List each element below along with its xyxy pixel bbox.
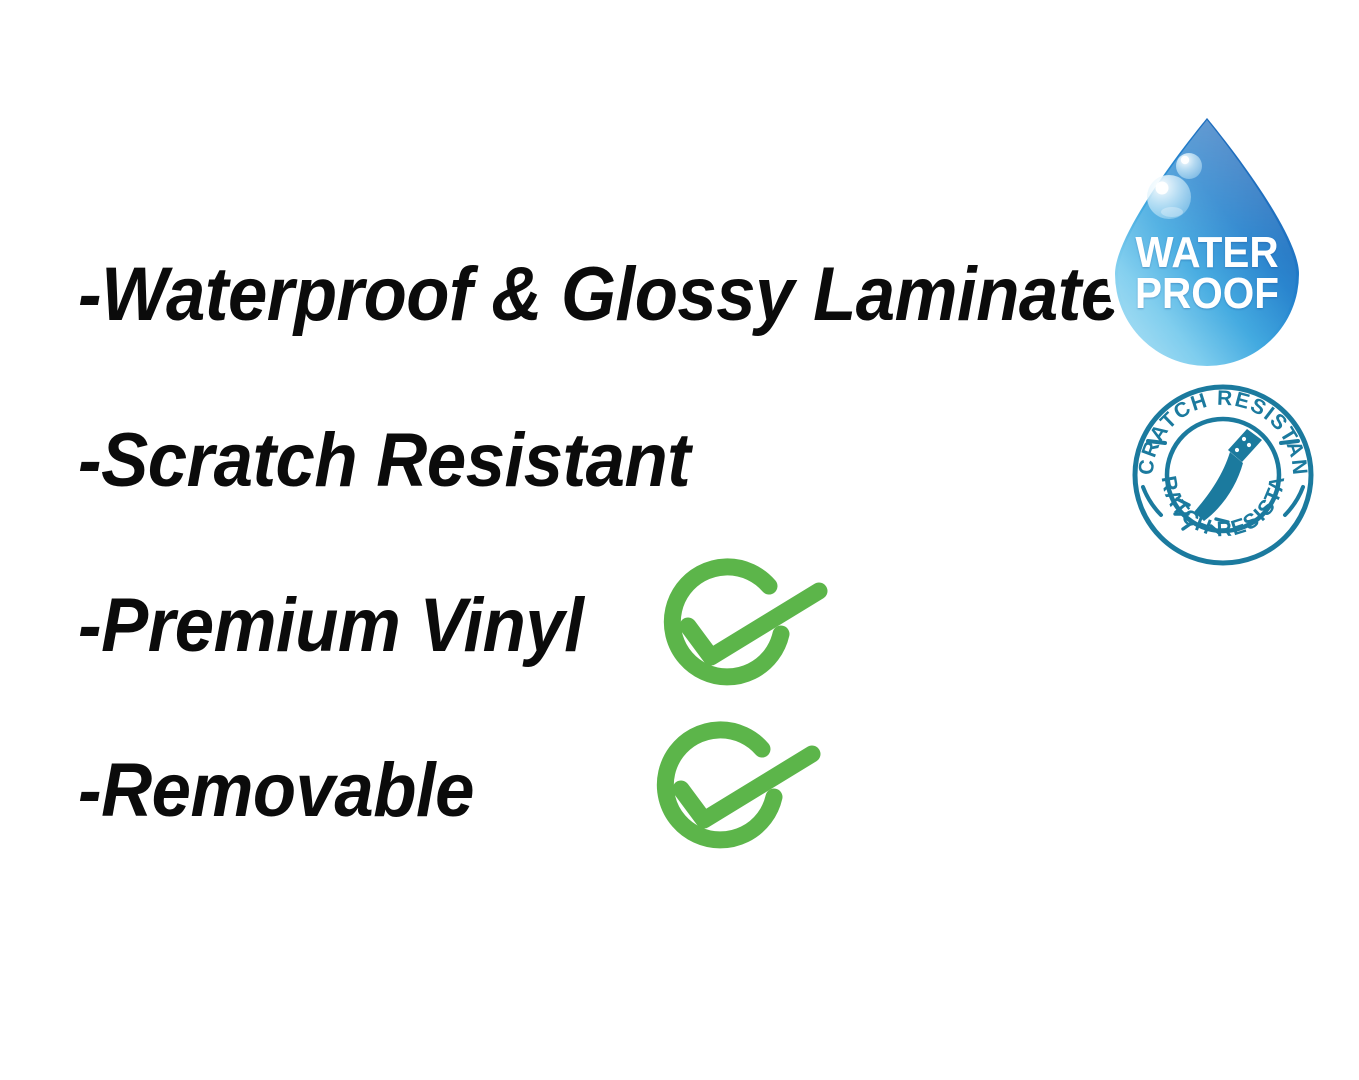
feature-line-scratch-resistant: -Scratch Resistant	[78, 423, 690, 499]
feature-line-removable: -Removable	[78, 753, 474, 829]
feature-line-waterproof-glossy-laminated: -Waterproof & Glossy Laminated	[78, 257, 1162, 333]
check-circle-icon	[634, 719, 824, 869]
check-circle-icon	[641, 556, 831, 706]
scratch-resistant-badge: SCRATCH RESISTANT SCRATCH RESISTANT	[1131, 383, 1315, 567]
water-drop-icon	[1098, 104, 1316, 366]
check-icon-premium-vinyl	[641, 556, 831, 706]
knife-stamp-icon: SCRATCH RESISTANT SCRATCH RESISTANT	[1131, 383, 1315, 567]
feature-line-premium-vinyl: -Premium Vinyl	[78, 588, 583, 664]
feature-list-page: -Waterproof & Glossy Laminated -Scratch …	[0, 0, 1359, 1080]
check-icon-removable	[634, 719, 824, 869]
scratch-top-text: SCRATCH RESISTANT	[1131, 383, 1311, 477]
waterproof-badge: WATER PROOF	[1098, 104, 1316, 366]
